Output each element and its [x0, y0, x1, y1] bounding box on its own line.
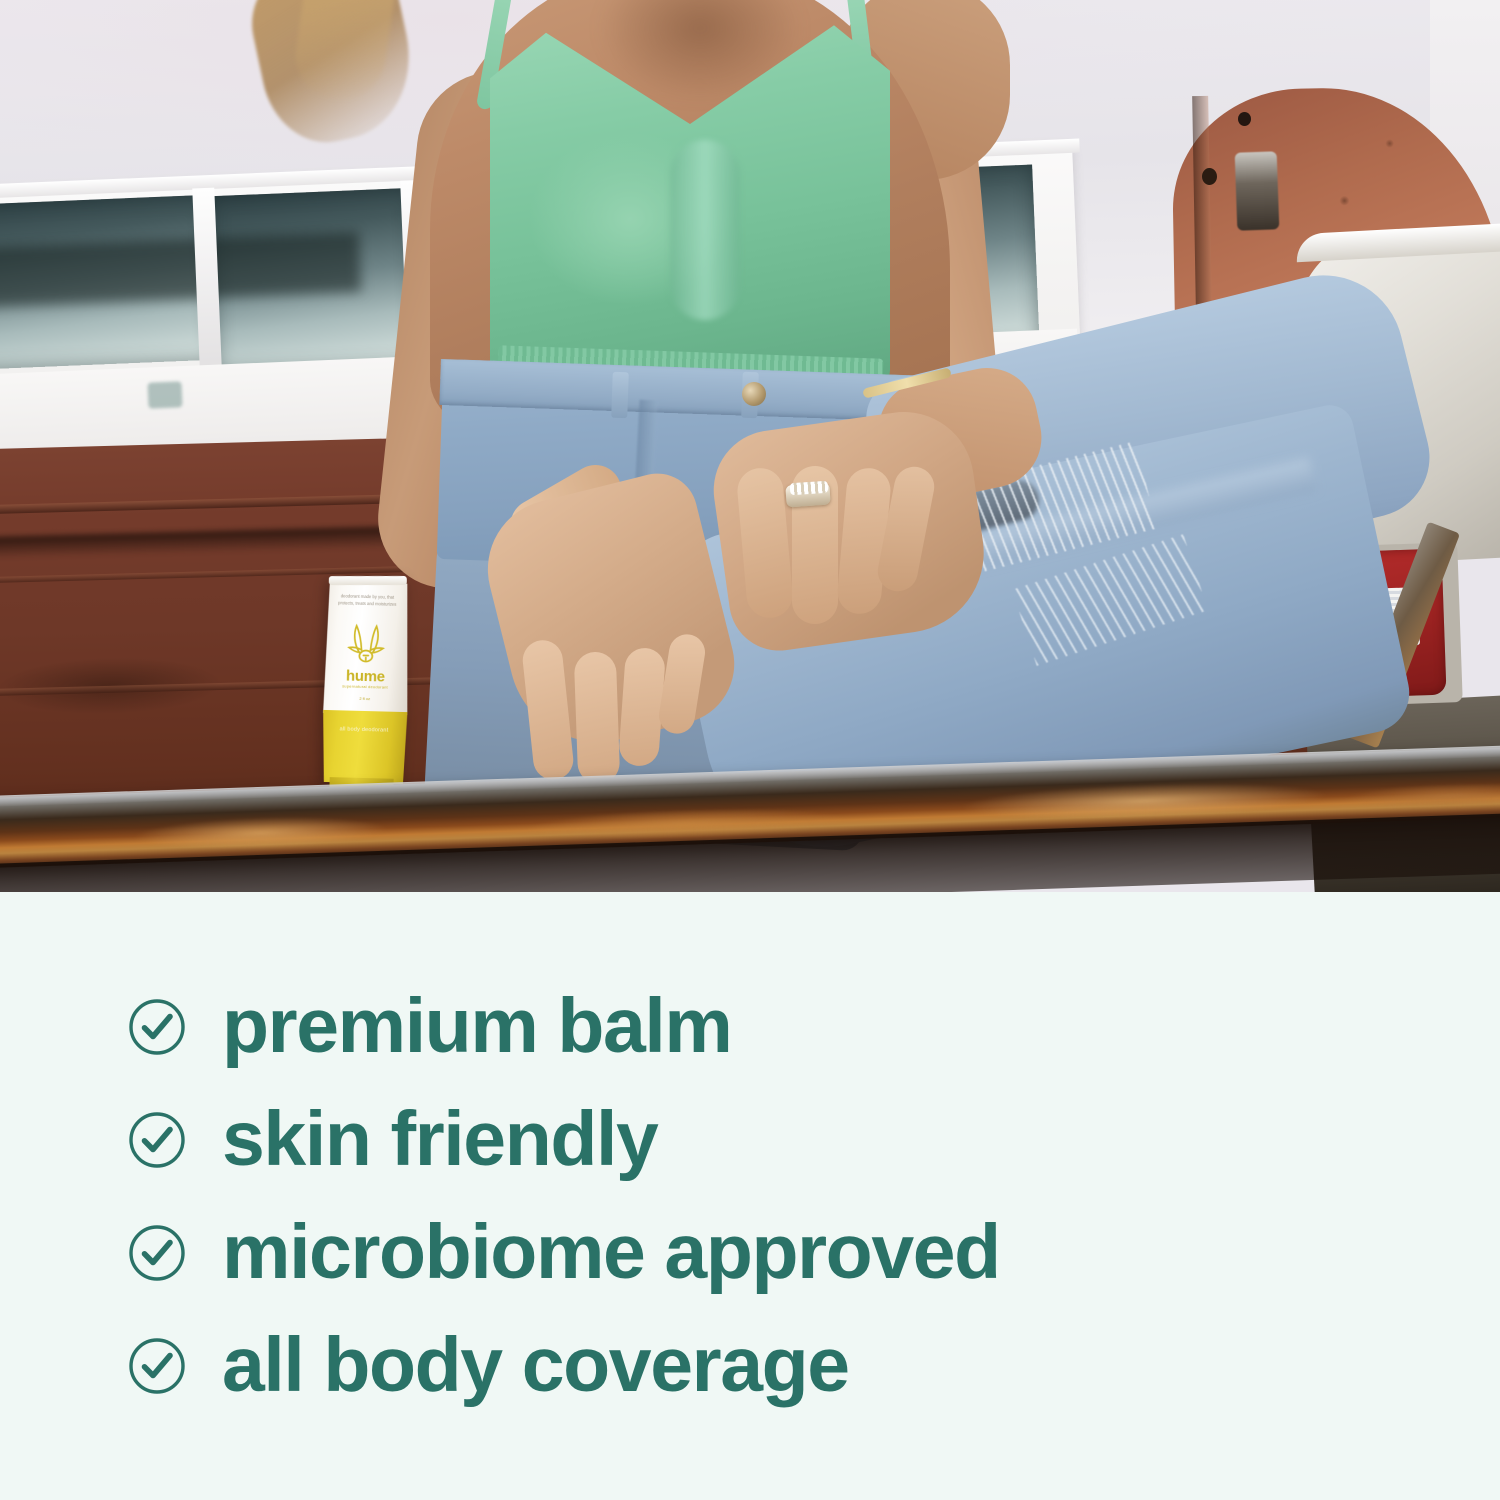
truck-door-handle [147, 381, 182, 408]
product-tube: deodorant made by you, that protects, tr… [319, 579, 411, 799]
product-tube-front-copy: deodorant made by you, that protects, tr… [333, 592, 401, 608]
check-circle-icon [128, 1337, 186, 1395]
feature-label: skin friendly [222, 1101, 657, 1178]
bunny-logo-icon [345, 621, 388, 666]
product-tube-crimp [329, 576, 407, 585]
feature-item: skin friendly [128, 1083, 1428, 1196]
lifestyle-product-photo: deodorant made by you, that protects, tr… [0, 0, 1500, 892]
check-circle-icon [128, 1111, 186, 1169]
tank-top-ruching [670, 140, 740, 320]
tailgate-latch-hole [1238, 112, 1251, 126]
feature-label: microbiome approved [222, 1214, 1000, 1291]
left-hand-finger [574, 651, 621, 784]
feature-item: microbiome approved [128, 1196, 1428, 1309]
left-hand-finger [618, 647, 666, 768]
check-circle-icon [128, 1224, 186, 1282]
feature-item: premium balm [128, 970, 1428, 1083]
product-tube-yellow-section [320, 710, 408, 784]
jeans-belt-loop [611, 372, 629, 419]
feature-label: premium balm [222, 988, 732, 1065]
feature-list-panel: premium balm skin friendly [0, 892, 1500, 1500]
check-circle-icon [128, 998, 186, 1056]
product-marketing-image: deodorant made by you, that protects, tr… [0, 0, 1500, 1500]
feature-label: all body coverage [222, 1327, 849, 1404]
feature-item: all body coverage [128, 1309, 1428, 1422]
feature-list: premium balm skin friendly [128, 970, 1428, 1422]
jeans-button [742, 382, 766, 406]
tailgate-latch [1235, 151, 1280, 230]
